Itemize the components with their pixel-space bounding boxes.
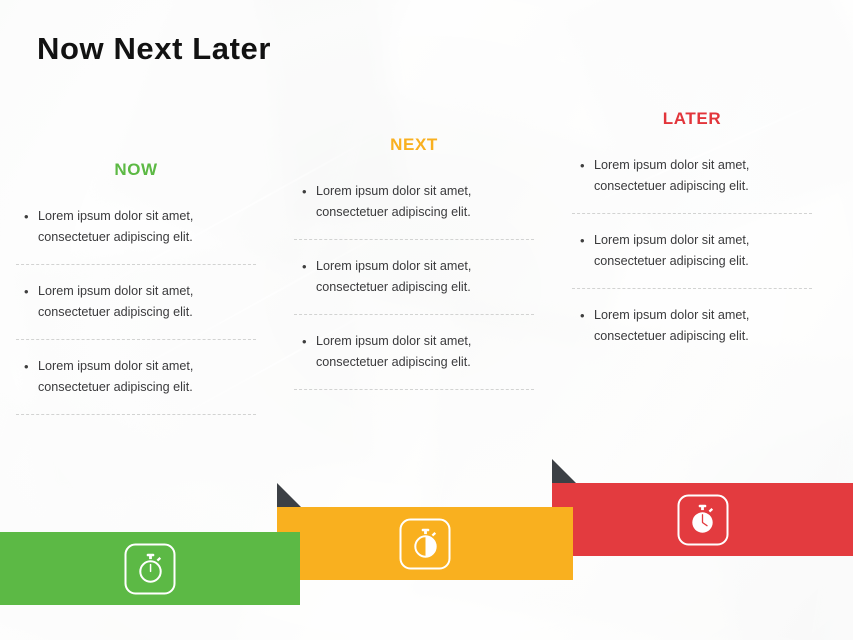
list-separator <box>294 389 534 390</box>
list-separator <box>16 264 256 265</box>
list-item: • Lorem ipsum dolor sit amet, consectetu… <box>288 181 540 223</box>
list-separator <box>572 288 812 289</box>
stopwatch-full-icon <box>677 494 728 545</box>
list-separator <box>572 213 812 214</box>
list-item: • Lorem ipsum dolor sit amet, consectetu… <box>288 331 540 373</box>
banner-next[interactable] <box>277 507 573 580</box>
column-now: NOW • Lorem ipsum dolor sit amet, consec… <box>10 160 262 431</box>
list-separator <box>16 414 256 415</box>
slide-title: Now Next Later <box>37 31 271 67</box>
list-separator <box>16 339 256 340</box>
banner-later[interactable] <box>552 483 853 556</box>
list-item-text: Lorem ipsum dolor sit amet, consectetuer… <box>594 155 804 197</box>
list-separator <box>294 239 534 240</box>
list-item-text: Lorem ipsum dolor sit amet, consectetuer… <box>316 256 526 298</box>
column-heading-later: LATER <box>566 109 818 129</box>
list-item-text: Lorem ipsum dolor sit amet, consectetuer… <box>38 281 248 323</box>
list-item-text: Lorem ipsum dolor sit amet, consectetuer… <box>594 305 804 347</box>
list-item-text: Lorem ipsum dolor sit amet, consectetuer… <box>316 331 526 373</box>
banner-now[interactable] <box>0 532 300 605</box>
column-next: NEXT • Lorem ipsum dolor sit amet, conse… <box>288 135 540 406</box>
stopwatch-half-icon <box>400 518 451 569</box>
list-item: • Lorem ipsum dolor sit amet, consectetu… <box>10 356 262 398</box>
stopwatch-empty-icon <box>125 543 176 594</box>
list-item-text: Lorem ipsum dolor sit amet, consectetuer… <box>38 356 248 398</box>
column-heading-now: NOW <box>10 160 262 180</box>
list-item-text: Lorem ipsum dolor sit amet, consectetuer… <box>316 181 526 223</box>
list-item: • Lorem ipsum dolor sit amet, consectetu… <box>566 305 818 347</box>
list-item: • Lorem ipsum dolor sit amet, consectetu… <box>288 256 540 298</box>
column-heading-next: NEXT <box>288 135 540 155</box>
bullet-marker-icon: • <box>580 305 594 326</box>
slide-canvas: Now Next Later NOW • Lorem ipsum dolor s… <box>0 0 853 640</box>
bullet-marker-icon: • <box>24 356 38 377</box>
bullet-marker-icon: • <box>580 155 594 176</box>
list-item: • Lorem ipsum dolor sit amet, consectetu… <box>566 230 818 272</box>
list-item-text: Lorem ipsum dolor sit amet, consectetuer… <box>38 206 248 248</box>
list-item-text: Lorem ipsum dolor sit amet, consectetuer… <box>594 230 804 272</box>
list-item: • Lorem ipsum dolor sit amet, consectetu… <box>10 206 262 248</box>
bullet-marker-icon: • <box>24 206 38 227</box>
list-item: • Lorem ipsum dolor sit amet, consectetu… <box>10 281 262 323</box>
bullet-marker-icon: • <box>302 256 316 277</box>
bullet-marker-icon: • <box>302 331 316 352</box>
column-later: LATER • Lorem ipsum dolor sit amet, cons… <box>566 109 818 347</box>
bullet-marker-icon: • <box>580 230 594 251</box>
list-item: • Lorem ipsum dolor sit amet, consectetu… <box>566 155 818 197</box>
bullet-marker-icon: • <box>24 281 38 302</box>
bullet-marker-icon: • <box>302 181 316 202</box>
list-separator <box>294 314 534 315</box>
